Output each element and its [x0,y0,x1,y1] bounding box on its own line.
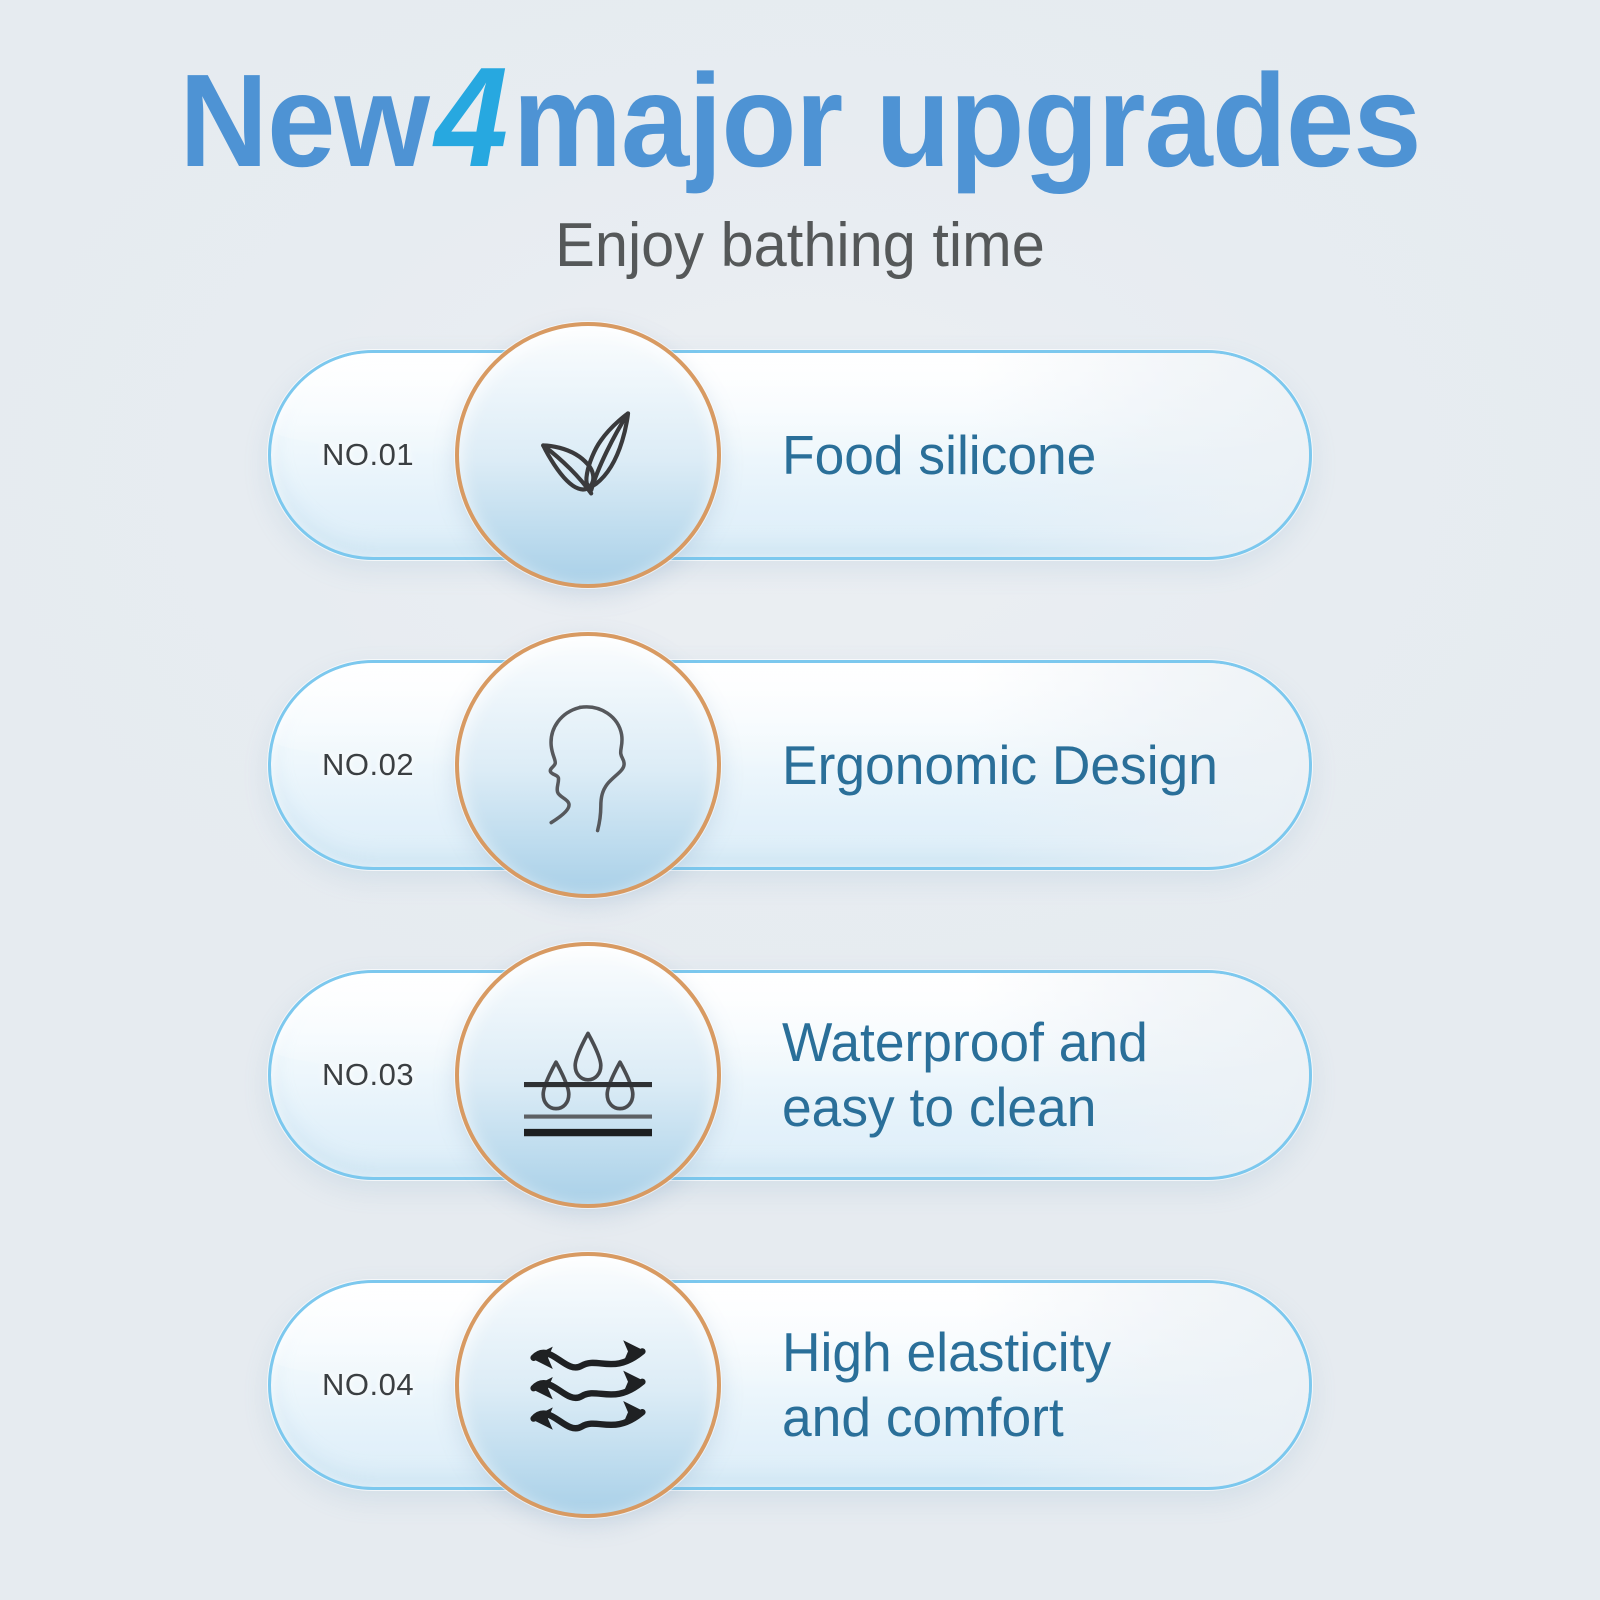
header: New4major upgrades Enjoy bathing time [0,0,1600,277]
feature-label-line: and comfort [782,1385,1286,1450]
feature-label: Ergonomic Design [782,660,1302,870]
title-number: 4 [429,38,513,197]
feature-number: NO.04 [322,1280,414,1490]
feature-label-line: Waterproof and [782,1010,1286,1075]
page-subtitle: Enjoy bathing time [32,191,1568,277]
feature-list: NO.01 Food silicone NO.02 [0,350,1600,1590]
head-profile-icon [508,685,668,845]
feature-number: NO.01 [322,350,414,560]
page-title: New4major upgrades [56,0,1544,191]
elastic-waves-icon [508,1305,668,1465]
feature-medallion [455,942,721,1208]
leaf-icon [508,375,668,535]
promo-infographic: New4major upgrades Enjoy bathing time NO… [0,0,1600,1600]
feature-label-line: Food silicone [782,423,1286,488]
title-suffix: major upgrades [513,47,1421,194]
list-item: NO.04 [0,1280,1600,1490]
feature-label-line: Ergonomic Design [782,733,1286,798]
list-item: NO.03 Waterproof and ea [0,970,1600,1180]
feature-label-line: easy to clean [782,1075,1286,1140]
feature-label: High elasticity and comfort [782,1280,1302,1490]
feature-number: NO.02 [322,660,414,870]
feature-number: NO.03 [322,970,414,1180]
feature-medallion [455,1252,721,1518]
title-prefix: New [179,47,429,194]
list-item: NO.01 Food silicone [0,350,1600,560]
feature-label-line: High elasticity [782,1320,1286,1385]
list-item: NO.02 Ergonomic Design [0,660,1600,870]
waterdrop-layers-icon [508,995,668,1155]
feature-medallion [455,632,721,898]
feature-label: Food silicone [782,350,1302,560]
feature-label: Waterproof and easy to clean [782,970,1302,1180]
feature-medallion [455,322,721,588]
